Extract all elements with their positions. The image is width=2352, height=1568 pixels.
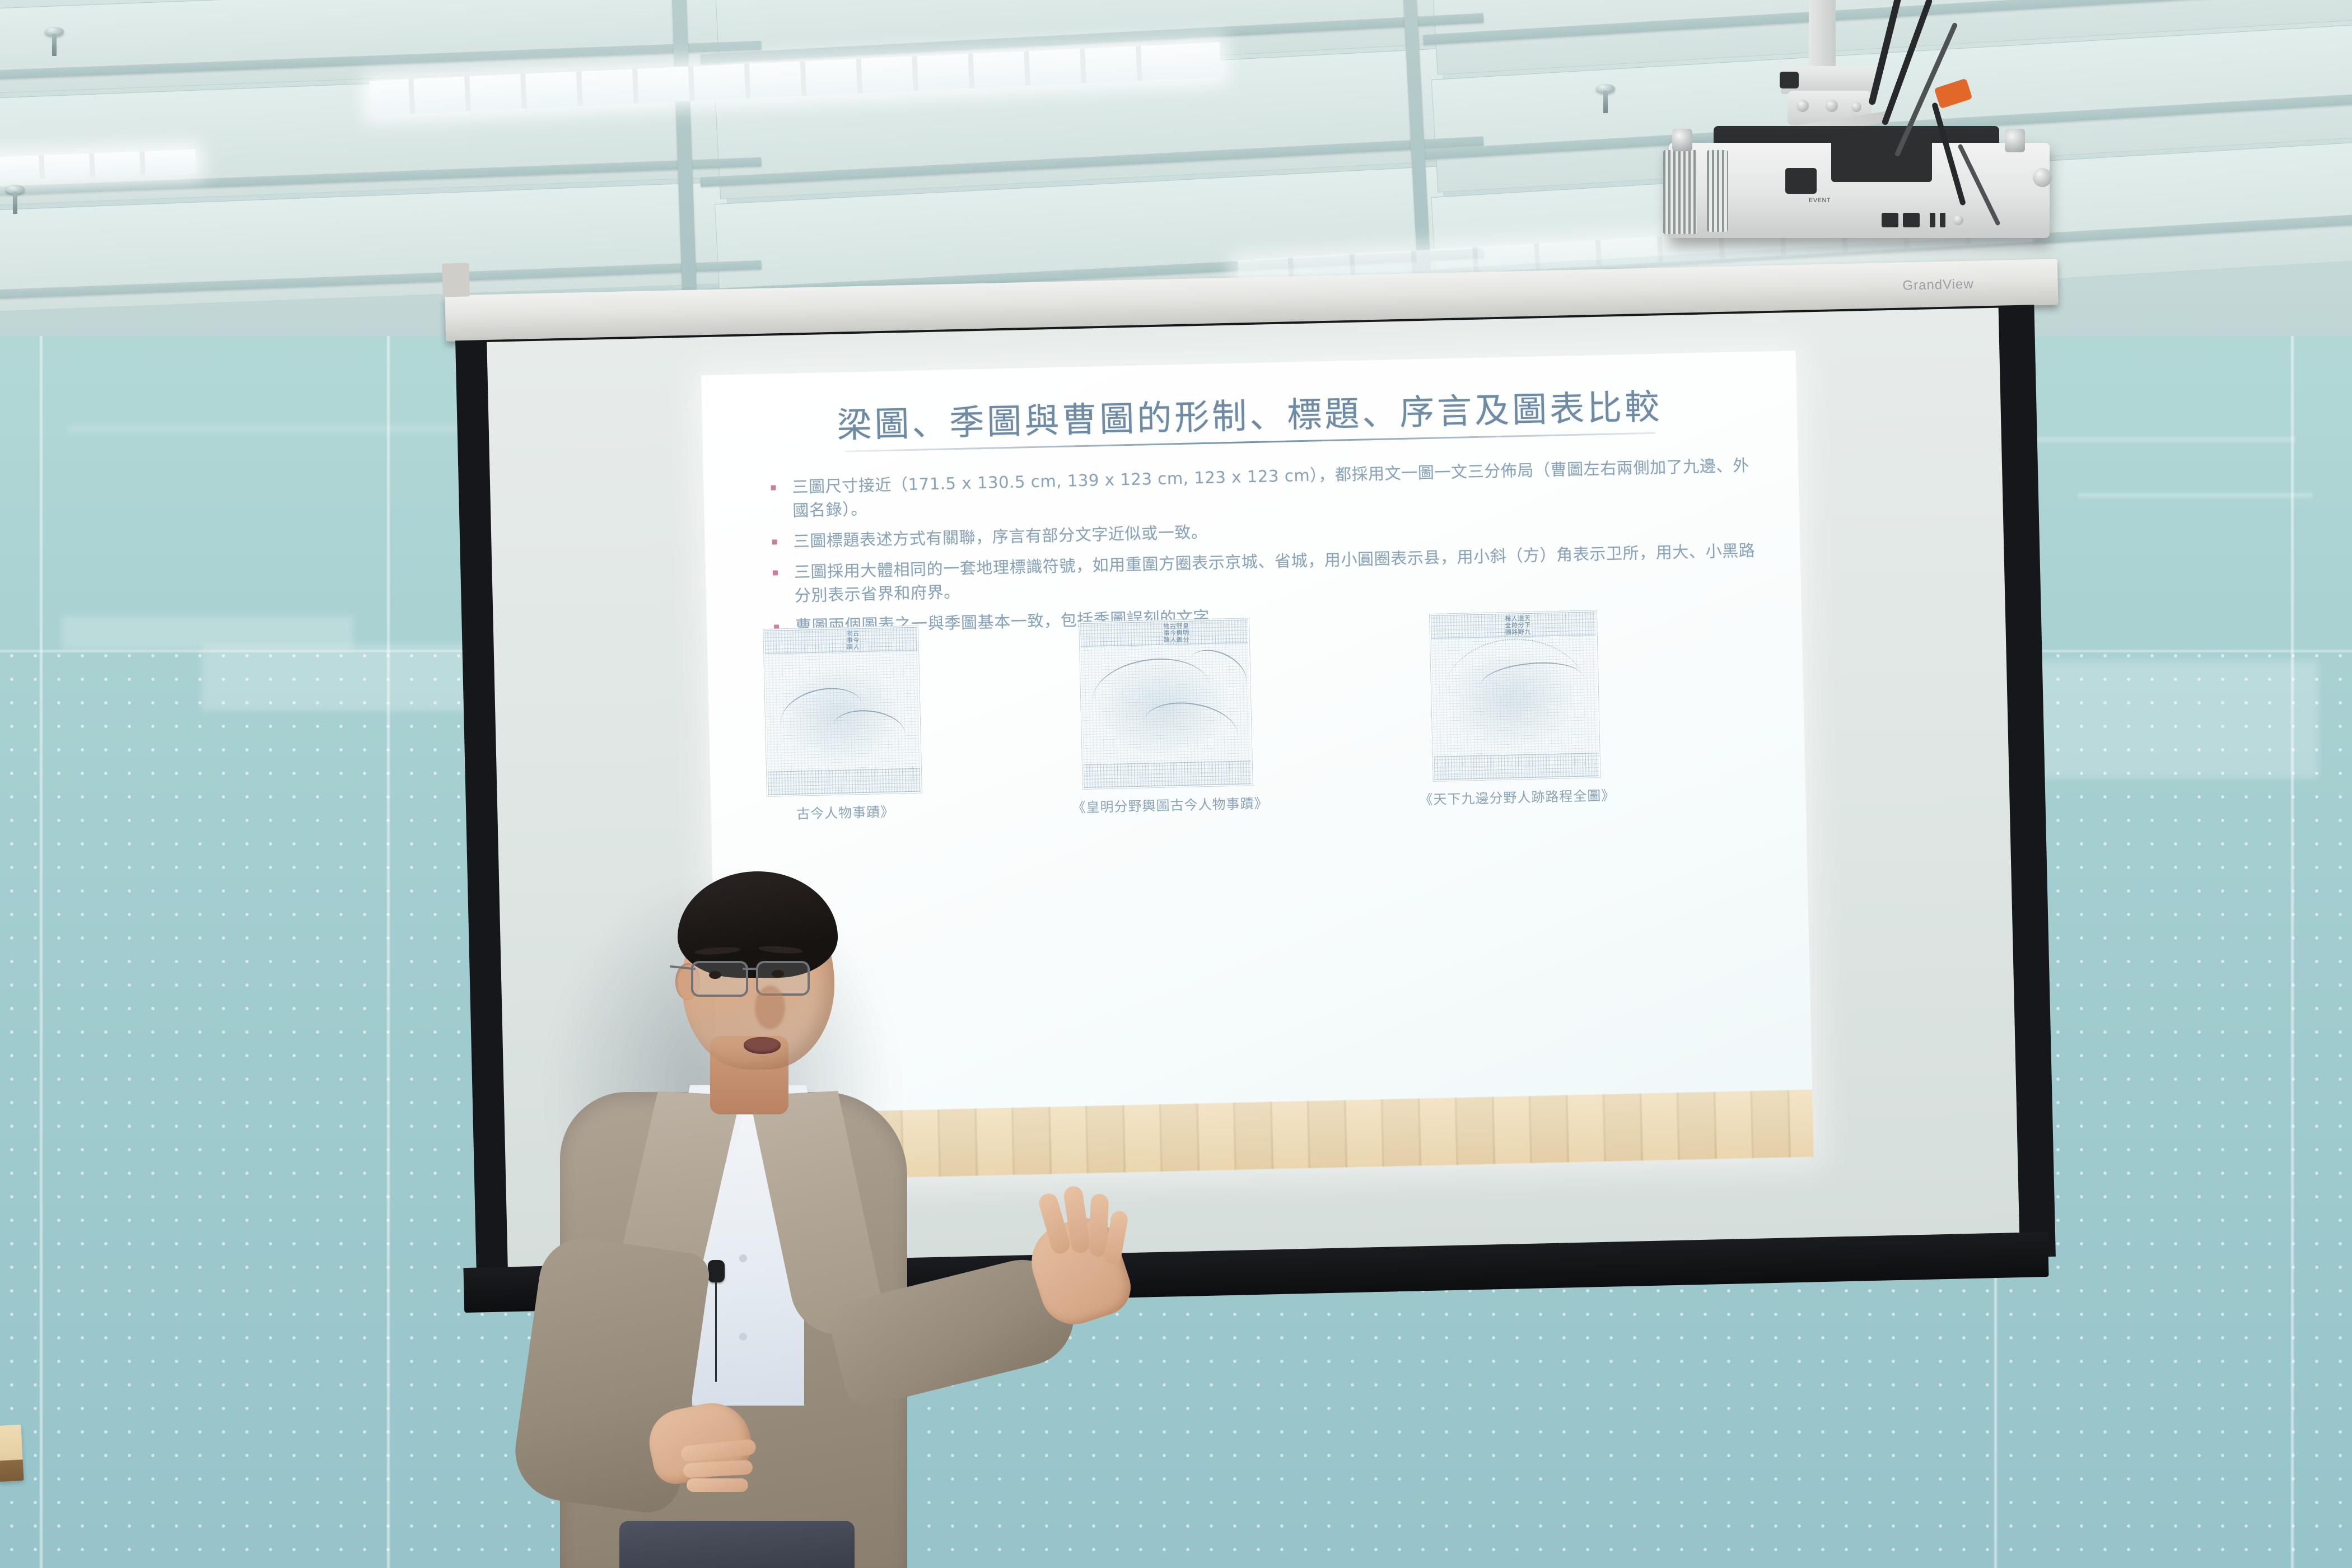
- map-cartouche-left: 古今人物事蹟: [846, 630, 859, 652]
- map-bottom-text-band: [768, 768, 921, 795]
- projector-mount-bolt: [1796, 100, 1809, 112]
- map-bottom-text-band: [1084, 760, 1252, 788]
- projector-knob: [1672, 129, 1692, 151]
- projector-port: [1940, 213, 1945, 227]
- speaker-nose: [755, 986, 785, 1029]
- lecture-photo-scene: EVENT GrandView 梁圖、季圖與曹圖的形制、標題、序言及圖表比較 三…: [0, 0, 2352, 1568]
- projector-port: [1882, 213, 1898, 227]
- projector-lens-housing: [1831, 132, 1932, 182]
- slide-title: 梁圖、季圖與曹圖的形制、標題、序言及圖表比較: [702, 375, 1798, 450]
- projector-mount-pole: [1809, 0, 1836, 67]
- orange-cable-tie: [1934, 78, 1973, 109]
- glass-reflection: [2027, 437, 2296, 442]
- projector-mount-bolt: [1851, 102, 1861, 112]
- slide-figure-row: 古今人物事蹟 古今人物事蹟》 皇明分野輿圖古今人物事蹟 《皇明分野輿圖古今人: [707, 605, 1805, 798]
- map-figure-left: 古今人物事蹟: [763, 626, 922, 797]
- ceiling-projector: EVENT: [1641, 0, 2100, 258]
- sprinkler-head: [6, 185, 25, 194]
- shirt-button: [739, 1254, 747, 1262]
- speaker-eye: [772, 970, 784, 978]
- speaker-mouth: [744, 1037, 781, 1054]
- eyeglasses-bridge: [743, 968, 758, 970]
- speaker-trousers: [619, 1521, 855, 1568]
- map-caption-right: 《天下九邊分野人跡路程全圖》: [1371, 783, 1663, 810]
- projector-knob: [2005, 129, 2025, 152]
- glass-reflection: [2078, 493, 2313, 498]
- sprinkler-head: [45, 27, 64, 36]
- projector-vent: [1707, 150, 1728, 232]
- projector-port: [1903, 213, 1920, 227]
- map-cartouche-right: 天下九邊分野人跡路程全圖: [1504, 615, 1530, 637]
- projector-focus-dial: [1785, 168, 1817, 194]
- screen-bracket: [442, 263, 469, 297]
- map-figure-right: 天下九邊分野人跡路程全圖: [1429, 610, 1601, 782]
- glass-reflection: [67, 426, 493, 432]
- shirt-button: [739, 1333, 747, 1341]
- projector-port: [1953, 215, 1963, 225]
- map-figure-center: 皇明分野輿圖古今人物事蹟: [1079, 618, 1253, 790]
- map-cartouche-center: 皇明分野輿圖古今人物事蹟: [1163, 623, 1189, 645]
- speaker: [571, 851, 1243, 1568]
- projector-mount-clamp: [1780, 72, 1799, 88]
- eyeglasses-lens-left: [691, 961, 748, 997]
- map-top-text-band: [764, 627, 917, 654]
- projector-cable-connector: [2033, 168, 2052, 187]
- speaker-finger: [687, 1478, 748, 1492]
- map-caption-left: 古今人物事蹟》: [744, 800, 946, 824]
- speaker-eye: [709, 971, 721, 979]
- projector-port-label: EVENT: [1809, 197, 1831, 204]
- lapel-microphone: [708, 1260, 725, 1282]
- screen-brand-label: GrandView: [1902, 277, 1974, 294]
- projector-vent: [1663, 150, 1697, 234]
- projector-port: [1930, 213, 1935, 227]
- sprinkler-head: [1596, 84, 1615, 93]
- wooden-object: [0, 1425, 24, 1482]
- map-caption-center: 《皇明分野輿圖古今人物事蹟》: [1024, 791, 1316, 818]
- projector-mount-bolt: [1826, 100, 1838, 112]
- microphone-wire: [715, 1281, 717, 1382]
